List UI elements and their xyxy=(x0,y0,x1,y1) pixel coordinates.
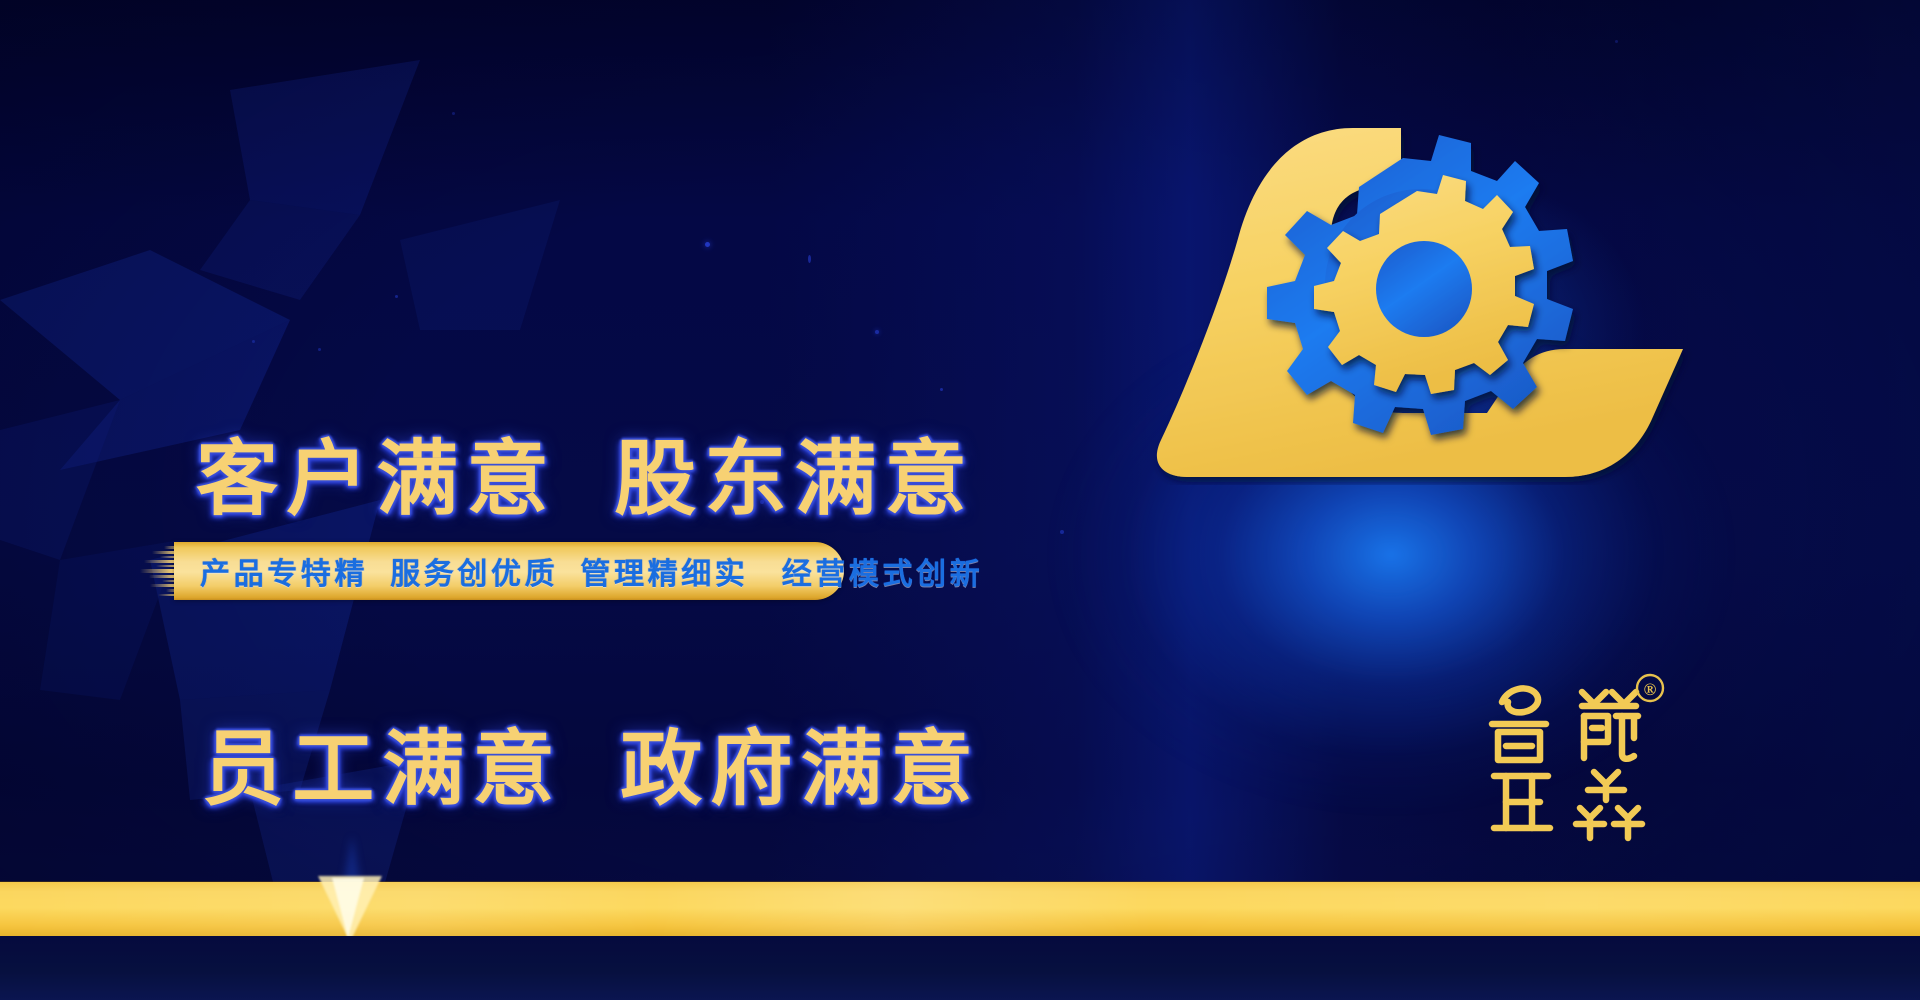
wordmark-char-sen xyxy=(1576,772,1642,838)
banner-canvas: 客户满意 股东满意 员工满意 政府满意 产品专特精 服务创优质 管理精细实 经营… xyxy=(0,0,1920,1000)
gold-bar-highlight-core xyxy=(332,878,364,938)
gold-bar-sheen xyxy=(0,882,1920,936)
below-bar-strip xyxy=(0,936,1920,1000)
wordmark-char-zheng xyxy=(1494,776,1550,828)
slogan-line-1: 客户满意 股东满意 xyxy=(196,432,976,529)
slogan-line-2: 员工满意 政府满意 xyxy=(202,722,976,819)
registered-symbol-glyph: ® xyxy=(1644,680,1657,699)
logo-inner-gear xyxy=(1314,175,1534,394)
company-wordmark: ® xyxy=(1482,672,1672,852)
ribbon-text: 产品专特精 服务创优质 管理精细实 经营模式创新 xyxy=(174,542,836,600)
bottom-gold-bar xyxy=(0,882,1920,936)
sub-slogan-ribbon: 产品专特精 服务创优质 管理精细实 经营模式创新 xyxy=(140,542,844,600)
wordmark-char-zhu xyxy=(1582,692,1638,759)
registered-trademark-icon: ® xyxy=(1637,675,1663,701)
company-logo-emblem xyxy=(1135,95,1695,485)
wordmark-char-tai xyxy=(1492,688,1546,760)
